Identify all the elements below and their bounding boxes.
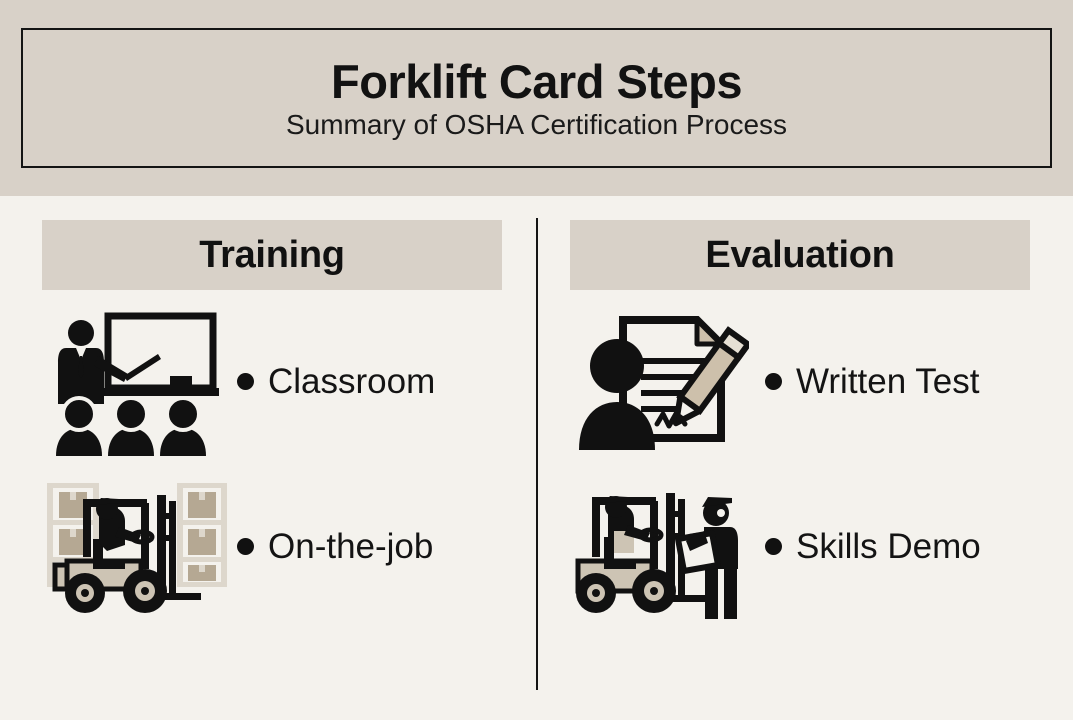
list-item: On-the-job — [19, 469, 525, 624]
bullet-icon — [765, 373, 782, 390]
bullet-icon — [765, 538, 782, 555]
list-item: Written Test — [547, 304, 1053, 459]
column-header-training: Training — [42, 220, 502, 290]
bullet-icon — [237, 373, 254, 390]
forklift-operator-icon — [41, 472, 231, 622]
column-header-training-label: Training — [199, 236, 344, 274]
classroom-icon — [41, 307, 231, 457]
page-title: Forklift Card Steps — [331, 58, 742, 105]
column-header-evaluation-label: Evaluation — [705, 236, 894, 274]
list-item-content: Skills Demo — [765, 529, 981, 564]
list-item: Classroom — [19, 304, 525, 459]
list-item-content: On-the-job — [237, 529, 433, 564]
list-item-label: Written Test — [796, 364, 980, 399]
list-item-label: Classroom — [268, 364, 435, 399]
column-evaluation: Evaluation — [547, 196, 1053, 624]
bullet-icon — [237, 538, 254, 555]
header-band: Forklift Card Steps Summary of OSHA Cert… — [0, 0, 1073, 196]
list-item-content: Written Test — [765, 364, 980, 399]
column-header-evaluation: Evaluation — [570, 220, 1030, 290]
content-area: Training — [0, 196, 1073, 720]
column-training: Training — [19, 196, 525, 624]
list-item-label: Skills Demo — [796, 529, 981, 564]
forklift-evaluator-icon — [569, 472, 759, 622]
written-test-icon — [569, 307, 759, 457]
page-subtitle: Summary of OSHA Certification Process — [286, 111, 787, 139]
list-item-content: Classroom — [237, 364, 435, 399]
list-item-label: On-the-job — [268, 529, 433, 564]
title-box: Forklift Card Steps Summary of OSHA Cert… — [21, 28, 1052, 168]
list-item: Skills Demo — [547, 469, 1053, 624]
column-divider — [536, 218, 538, 690]
